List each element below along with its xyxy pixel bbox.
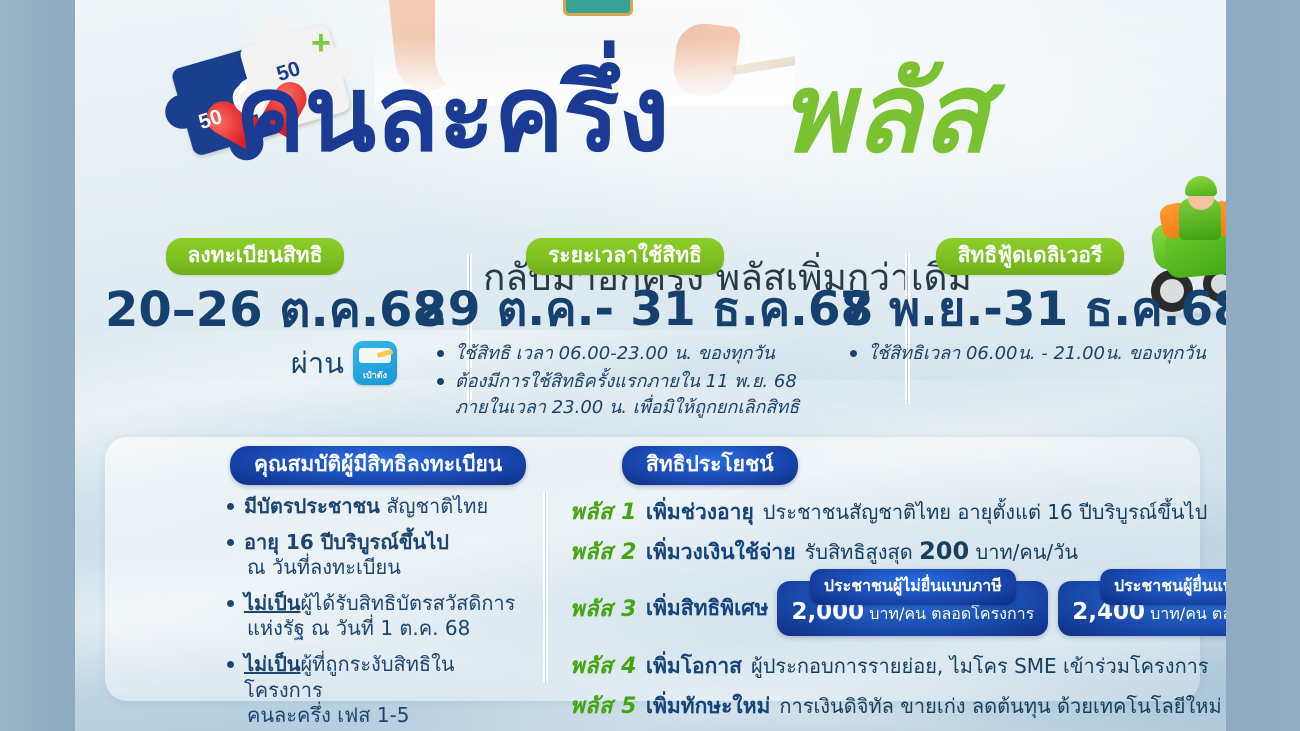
benefit-tag: พลัส 1 — [570, 494, 637, 529]
note-item: ใช้สิทธิ เวลา 06.00-23.00 น. ของทุกวัน — [437, 341, 835, 367]
benefit-tag: พลัส 3 — [570, 591, 637, 626]
qual-rest: สัญชาติไทย — [380, 494, 488, 518]
poster-screen: 50 50 + คนละครึ่ง พลัส กลับมาอีกครั้ง พล… — [0, 0, 1300, 731]
qual-line2: แห่งรัฐ ณ วันที่ 1 ต.ค. 68 — [244, 616, 532, 642]
benefit-tag: พลัส 2 — [570, 534, 637, 569]
benefit-body: ผู้ประกอบการรายย่อย, ไมโคร SME เข้าร่วมโ… — [751, 650, 1209, 682]
left-margin-bar — [0, 0, 75, 731]
benefit-body-post: บาท/คน/วัน — [969, 540, 1078, 564]
benefit-head: เพิ่มโอกาส — [646, 650, 742, 683]
qual-rest: ผู้ได้รับสิทธิบัตรสวัสดิการ — [300, 591, 515, 615]
qual-line2: ณ วันที่ลงทะเบียน — [244, 555, 532, 581]
app-icon-label: เป๋าตัง — [353, 368, 397, 382]
benefit-amount: 200 — [919, 537, 969, 565]
bullet-dot-icon — [850, 350, 857, 357]
date-columns: ลงทะเบียนสิทธิ 20–26 ต.ค.68 ผ่าน เป๋าตัง… — [75, 238, 1226, 418]
bullet-dot-icon — [227, 539, 234, 546]
qualifications-list: มีบัตรประชาชน สัญชาติไทย อายุ 16 ปีบริบู… — [227, 494, 532, 731]
qual-underline: ไม่เป็น — [244, 652, 300, 676]
usage-period-notes: ใช้สิทธิ เวลา 06.00-23.00 น. ของทุกวัน ต… — [415, 341, 835, 421]
page-title-accent: พลัส — [780, 58, 990, 168]
benefit-tag: พลัส 4 — [570, 648, 637, 683]
bullet-dot-icon — [437, 378, 444, 385]
note-item: ใช้สิทธิเวลา 06.00น. - 21.00น. ของทุกวัน — [850, 341, 1220, 367]
via-label: ผ่าน — [291, 340, 344, 386]
benefit-row: พลัส 2 เพิ่มวงเงินใช้จ่าย รับสิทธิสูงสุด… — [570, 534, 1190, 569]
note-text: ใช้สิทธิเวลา 06.00น. - 21.00น. ของทุกวัน — [868, 343, 1206, 364]
benefit-head: เพิ่มทักษะใหม่ — [646, 690, 770, 723]
benefit-tag: พลัส 5 — [570, 688, 637, 723]
benefit-body: รับสิทธิสูงสุด 200 บาท/คน/วัน — [805, 536, 1079, 568]
tax-box-non-filer: ประชาชนผู้ไม่ยื่นแบบภาษี 2,000 บาท/คน ตล… — [777, 581, 1048, 636]
list-item: อายุ 16 ปีบริบูรณ์ขึ้นไป ณ วันที่ลงทะเบี… — [227, 530, 532, 581]
right-margin-bar — [1226, 0, 1300, 731]
note-text: ต้องมีการใช้สิทธิครั้งแรกภายใน 11 พ.ย. 6… — [455, 371, 797, 392]
column-food-delivery: สิทธิฟู้ดเดลิเวอรี 7 พ.ย.-31 ธ.ค.68 ใช้ส… — [840, 238, 1220, 369]
list-item: มีบัตรประชาชน สัญชาติไทย — [227, 494, 532, 520]
qual-strong: มีบัตรประชาชน — [244, 494, 380, 518]
tax-box-value: 2,400 บาท/คน ตลอดโครงการ — [1072, 604, 1226, 623]
column-usage-period: ระยะเวลาใช้สิทธิ 29 ต.ค.- 31 ธ.ค.68 ใช้ส… — [415, 238, 835, 423]
bullet-dot-icon — [437, 350, 444, 357]
benefit-row: พลัส 1 เพิ่มช่วงอายุ ประชาชนสัญชาติไทย อ… — [570, 494, 1190, 529]
bullet-dot-icon — [227, 661, 234, 668]
tax-box-caption: ประชาชนผู้ไม่ยื่นแบบภาษี — [810, 569, 1016, 605]
badge-qualifications: คุณสมบัติผู้มีสิทธิลงทะเบียน — [230, 446, 526, 485]
badge-benefits: สิทธิประโยชน์ — [622, 446, 798, 485]
badge-usage-period: ระยะเวลาใช้สิทธิ — [526, 238, 724, 275]
bullet-dot-icon — [227, 600, 234, 607]
qual-underline: ไม่เป็น — [244, 591, 300, 615]
benefit-row: พลัส 4 เพิ่มโอกาส ผู้ประกอบการรายย่อย, ไ… — [570, 648, 1190, 683]
benefit-body-pre: รับสิทธิสูงสุด — [805, 540, 920, 564]
benefit-row: พลัส 5 เพิ่มทักษะใหม่ การเงินดิจิทัล ขาย… — [570, 688, 1190, 723]
tax-unit: บาท/คน ตลอดโครงการ — [1145, 604, 1226, 623]
registration-via: ผ่าน เป๋าตัง — [105, 340, 405, 386]
note-text-line2: ภายในเวลา 23.00 น. เพื่อมิให้ถูกยกเลิกสิ… — [455, 395, 835, 421]
bullet-dot-icon — [227, 503, 234, 510]
panel-divider — [543, 492, 548, 682]
food-delivery-notes: ใช้สิทธิเวลา 06.00น. - 21.00น. ของทุกวัน — [840, 341, 1220, 367]
qual-line2: คนละครึ่ง เฟส 1-5 — [244, 703, 532, 729]
food-delivery-date: 7 พ.ย.-31 ธ.ค.68 — [840, 286, 1220, 335]
tax-box-filer: ประชาชนผู้ยื่นแบบภาษี 2,400 บาท/คน ตลอดโ… — [1058, 581, 1226, 636]
page-title: คนละครึ่ง — [235, 62, 669, 167]
benefits-list: พลัส 1 เพิ่มช่วงอายุ ประชาชนสัญชาติไทย อ… — [570, 494, 1190, 728]
tax-boxes: ประชาชนผู้ไม่ยื่นแบบภาษี 2,000 บาท/คน ตล… — [777, 581, 1226, 636]
tax-box-value: 2,000 บาท/คน ตลอดโครงการ — [791, 604, 1034, 623]
benefit-body: ประชาชนสัญชาติไทย อายุตั้งแต่ 16 ปีบริบู… — [763, 496, 1208, 528]
usage-period-date: 29 ต.ค.- 31 ธ.ค.68 — [415, 286, 835, 335]
paotang-app-icon[interactable]: เป๋าตัง — [353, 341, 397, 385]
tax-box-caption: ประชาชนผู้ยื่นแบบภาษี — [1100, 569, 1226, 605]
badge-registration: ลงทะเบียนสิทธิ — [166, 238, 345, 275]
benefit-head: เพิ่มวงเงินใช้จ่าย — [646, 536, 796, 569]
benefit-head: เพิ่มช่วงอายุ — [646, 496, 754, 529]
list-item: ไม่เป็นผู้ได้รับสิทธิบัตรสวัสดิการ แห่งร… — [227, 591, 532, 642]
benefit-body: การเงินดิจิทัล ขายเก่ง ลดต้นทุน ด้วยเทคโ… — [779, 690, 1221, 722]
registration-date: 20–26 ต.ค.68 — [105, 286, 405, 336]
list-item: ไม่เป็นผู้ที่ถูกระงับสิทธิในโครงการ คนละ… — [227, 652, 532, 729]
title-block: คนละครึ่ง พลัส กลับมาอีกครั้ง พลัสเพิ่มก… — [235, 62, 1195, 182]
tax-unit: บาท/คน ตลอดโครงการ — [864, 604, 1034, 623]
poster-canvas: 50 50 + คนละครึ่ง พลัส กลับมาอีกครั้ง พล… — [75, 0, 1226, 731]
note-text: ใช้สิทธิ เวลา 06.00-23.00 น. ของทุกวัน — [455, 343, 775, 364]
qual-strong: อายุ 16 ปีบริบูรณ์ขึ้นไป — [244, 530, 449, 554]
badge-food-delivery: สิทธิฟู้ดเดลิเวอรี — [936, 238, 1125, 275]
benefit-row-tax: พลัส 3 เพิ่มสิทธิพิเศษ ประชาชนผู้ไม่ยื่น… — [570, 581, 1190, 636]
column-registration: ลงทะเบียนสิทธิ 20–26 ต.ค.68 ผ่าน เป๋าตัง — [105, 238, 405, 386]
benefit-head: เพิ่มสิทธิพิเศษ — [646, 592, 769, 625]
note-item: ต้องมีการใช้สิทธิครั้งแรกภายใน 11 พ.ย. 6… — [437, 369, 835, 421]
